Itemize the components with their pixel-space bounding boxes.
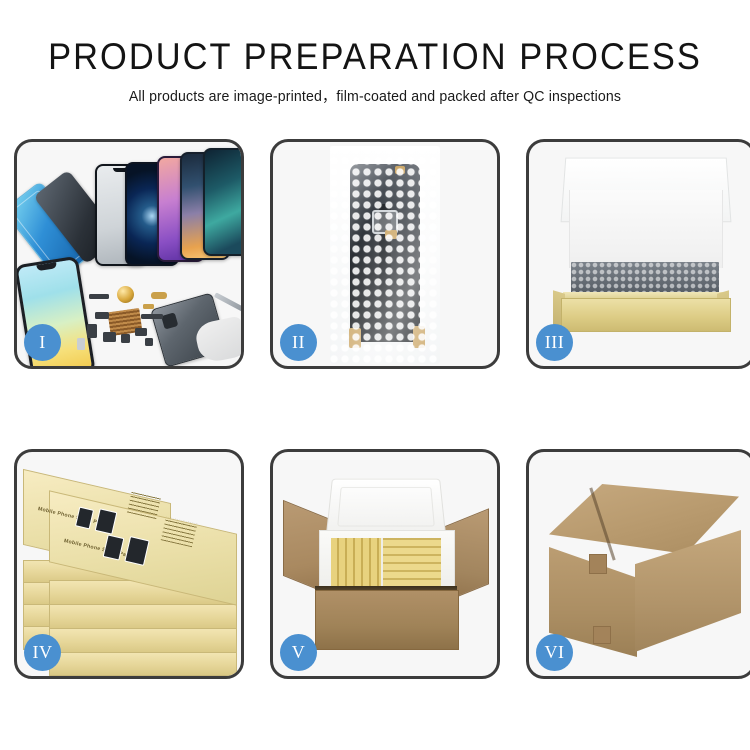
packed-contents xyxy=(331,538,441,586)
step-badge-5: V xyxy=(280,634,317,671)
step-card-6[interactable]: VI xyxy=(526,449,750,679)
page-subtitle: All products are image-printed，film-coat… xyxy=(11,90,739,105)
small-part-g xyxy=(121,334,130,343)
small-part-e xyxy=(87,324,97,338)
step-card-3[interactable]: III xyxy=(526,139,750,369)
stack-box-r2 xyxy=(49,604,237,630)
step-badge-1: I xyxy=(24,324,61,361)
page-header: PRODUCT PREPARATION PROCESS All products… xyxy=(0,0,750,105)
step-card-1[interactable]: I xyxy=(14,139,244,369)
small-part-i xyxy=(77,338,85,350)
teal-gradient-phone xyxy=(203,148,241,256)
small-part-a xyxy=(89,294,109,299)
page-title: PRODUCT PREPARATION PROCESS xyxy=(26,38,724,75)
step-card-4[interactable]: Mobile Phone Spare Parts Mobile Phone Sp… xyxy=(14,449,244,679)
step-badge-3: III xyxy=(536,324,573,361)
small-part-k xyxy=(141,314,163,319)
foam-cooler-lid xyxy=(326,479,447,537)
yellow-boxes-horizontal xyxy=(383,538,441,586)
small-part-f xyxy=(103,332,116,342)
box-lid-inner-face xyxy=(569,190,723,268)
step-badge-4: IV xyxy=(24,634,61,671)
step-card-5[interactable]: V xyxy=(270,449,500,679)
process-steps-grid: I II III xyxy=(14,139,736,679)
step-badge-2: II xyxy=(280,324,317,361)
carton-tape-lower xyxy=(593,626,611,644)
step-card-2[interactable]: II xyxy=(270,139,500,369)
box-front-panel xyxy=(561,298,731,332)
small-part-b xyxy=(151,292,167,299)
small-part-h xyxy=(135,328,147,336)
small-part-d xyxy=(95,312,109,319)
step-badge-6: VI xyxy=(536,634,573,671)
carton-tape-upper xyxy=(589,554,607,574)
yellow-boxes-vertical xyxy=(331,538,381,586)
gold-coil-part xyxy=(117,286,134,303)
small-part-j xyxy=(145,338,153,346)
small-part-c xyxy=(143,304,154,309)
carton-body xyxy=(315,590,459,650)
tweezer-tool xyxy=(214,292,241,312)
stack-box-r3 xyxy=(49,628,237,654)
stack-box-r4 xyxy=(49,652,237,676)
plastic-sheen xyxy=(330,146,440,364)
